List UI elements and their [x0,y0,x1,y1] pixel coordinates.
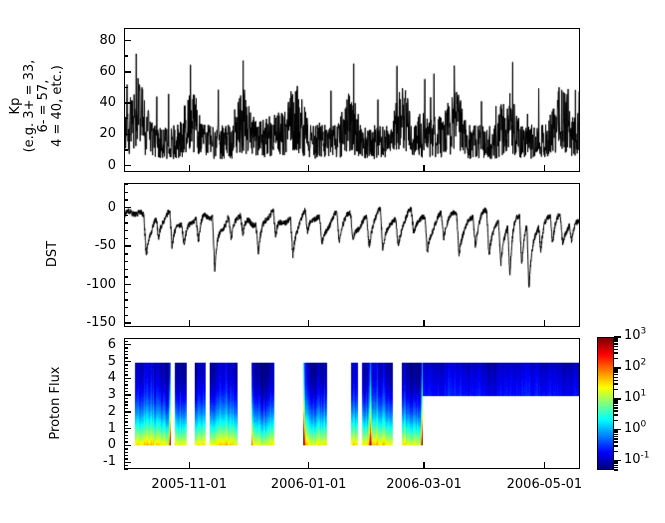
y-tick-minor [124,357,128,358]
colorbar-tick-minor [614,383,618,384]
y-tick-minor [124,388,128,389]
y-tick-minor [124,347,128,348]
colorbar-tick-minor [614,463,618,464]
colorbar-tick-minor [614,341,618,342]
proton-flux-plot-panel [124,338,580,469]
y-tick-minor [124,448,128,449]
x-tick-major [544,320,545,327]
y-tick-minor [124,292,128,293]
x-tick-major [544,165,545,172]
colorbar-tick-minor [614,400,618,401]
y-tick-minor [124,315,128,316]
colorbar-tick-minor [614,374,618,375]
y-tick-minor [124,40,128,41]
kp-axis-title: Kp (e.g. 3+ = 33, 6- = 57, 4 = 40, etc.) [9,21,65,191]
y-tick-minor [124,415,128,416]
colorbar-tick-minor [614,352,618,353]
colorbar-tick-minor [614,372,618,373]
colorbar-tick-minor [614,389,618,390]
colorbar [597,337,614,470]
colorbar-tick-minor [614,410,618,411]
colorbar-tick-minor [614,349,618,350]
y-tick-minor [124,411,128,412]
x-tick-major [189,320,190,327]
y-tick-minor [124,361,128,362]
colorbar-tick-minor [614,358,618,359]
y-tick-label: -1 [64,455,116,468]
y-tick-minor [124,215,128,216]
x-tick-major [308,320,309,327]
colorbar-tick-minor [614,338,618,339]
y-tick-minor [124,341,128,342]
colorbar-tick-label: 10-1 [624,453,650,466]
y-tick-label: 0 [64,159,116,172]
y-tick-minor [124,381,128,382]
x-tick-major [544,462,545,469]
y-tick-minor [124,435,128,436]
colorbar-tick-minor [614,465,618,466]
y-tick-minor [124,421,128,422]
x-tick-major [189,462,190,469]
y-tick-minor [124,408,128,409]
colorbar-tick-minor [614,432,618,433]
y-tick-minor [124,71,128,72]
colorbar-tick-minor [614,370,618,371]
x-tick-major [189,165,190,172]
colorbar-tick-minor [614,451,618,452]
y-tick-minor [124,230,128,231]
colorbar-tick-minor [614,380,618,381]
y-tick-label: -50 [64,239,116,252]
colorbar-tick-minor [614,405,618,406]
colorbar-tick-label: 103 [624,329,646,342]
colorbar-gradient [598,338,613,469]
colorbar-tick-minor [614,467,618,468]
kp-plot-panel [124,28,580,172]
y-tick-minor [124,374,128,375]
y-tick-minor [124,276,128,277]
y-tick-minor [124,149,128,150]
x-tick-major [423,165,424,172]
y-tick-minor [124,468,128,469]
x-tick-major [423,462,424,469]
y-tick-label: -100 [64,278,116,291]
colorbar-tick-minor [614,407,618,408]
y-tick-minor [124,269,128,270]
y-tick-minor [124,199,128,200]
y-tick-minor [124,87,128,88]
y-tick-minor [124,431,128,432]
colorbar-tick-minor [614,369,618,370]
y-tick-minor [124,368,128,369]
y-tick-label: 6 [64,338,116,351]
colorbar-tick-minor [614,441,618,442]
y-tick-minor [124,462,128,463]
y-tick-minor [124,418,128,419]
y-tick-minor [124,404,128,405]
y-tick-minor [124,307,128,308]
y-tick-minor [124,378,128,379]
y-tick-minor [124,384,128,385]
y-tick-label: 4 [64,371,116,384]
y-tick-minor [124,428,128,429]
colorbar-tick-minor [614,377,618,378]
y-tick-minor [124,394,128,395]
y-tick-label: 5 [64,355,116,368]
y-tick-minor [124,299,128,300]
colorbar-tick-minor [614,414,618,415]
y-tick-minor [124,222,128,223]
colorbar-tick-minor [614,434,618,435]
y-tick-minor [124,344,128,345]
colorbar-tick-label: 100 [624,422,646,435]
y-tick-label: 3 [64,388,116,401]
y-tick-minor [124,284,128,285]
proton-flux-axis-title: Proton Flux [49,353,63,453]
colorbar-tick-minor [614,343,618,344]
x-tick-label: 2006-01-01 [249,478,369,491]
x-tick-major [423,320,424,327]
y-tick-minor [124,465,128,466]
x-tick-major [308,462,309,469]
y-tick-minor [124,118,128,119]
colorbar-tick-minor [614,461,618,462]
y-tick-minor [124,364,128,365]
dst-plot-panel [124,183,580,327]
y-tick-minor [124,165,128,166]
y-tick-minor [124,192,128,193]
y-tick-minor [124,253,128,254]
colorbar-tick-minor [614,346,618,347]
y-tick-minor [124,445,128,446]
y-tick-minor [124,452,128,453]
y-tick-label: 80 [64,34,116,47]
colorbar-tick-minor [614,445,618,446]
y-tick-label: 0 [64,438,116,451]
y-tick-label: -150 [64,316,116,329]
y-tick-minor [124,455,128,456]
x-tick-label: 2005-11-01 [129,478,249,491]
y-tick-label: 60 [64,65,116,78]
y-tick-label: 1 [64,422,116,435]
colorbar-tick-minor [614,420,618,421]
figure-root: Kp (e.g. 3+ = 33, 6- = 57, 4 = 40, etc.)… [0,0,665,523]
y-tick-minor [124,238,128,239]
x-tick-label: 2006-05-01 [484,478,604,491]
y-tick-minor [124,401,128,402]
dst-series-canvas [125,184,579,326]
colorbar-tick-minor [614,430,618,431]
colorbar-tick-minor [614,438,618,439]
colorbar-tick-minor [614,339,618,340]
y-tick-minor [124,102,128,103]
colorbar-tick-label: 102 [624,360,646,373]
x-tick-label: 2006-03-01 [364,478,484,491]
y-tick-label: 40 [64,96,116,109]
colorbar-tick-minor [614,403,618,404]
y-tick-minor [124,351,128,352]
kp-series-canvas [125,29,579,171]
y-tick-minor [124,261,128,262]
colorbar-tick-minor [614,401,618,402]
colorbar-tick-minor [614,436,618,437]
y-tick-minor [124,134,128,135]
y-tick-minor [124,441,128,442]
y-tick-minor [124,458,128,459]
y-tick-minor [124,322,128,323]
y-tick-minor [124,184,128,185]
y-tick-minor [124,207,128,208]
y-tick-minor [124,391,128,392]
colorbar-tick-minor [614,469,618,470]
x-tick-major [308,165,309,172]
y-tick-minor [124,371,128,372]
dst-axis-title: DST [46,214,60,294]
colorbar-tick-label: 101 [624,391,646,404]
y-tick-label: 2 [64,405,116,418]
y-tick-minor [124,425,128,426]
y-tick-label: 20 [64,127,116,140]
y-tick-label: 0 [64,201,116,214]
y-tick-minor [124,398,128,399]
proton-flux-heatmap-canvas [125,339,579,468]
y-tick-minor [124,245,128,246]
y-tick-minor [124,438,128,439]
y-tick-minor [124,55,128,56]
y-tick-minor [124,354,128,355]
